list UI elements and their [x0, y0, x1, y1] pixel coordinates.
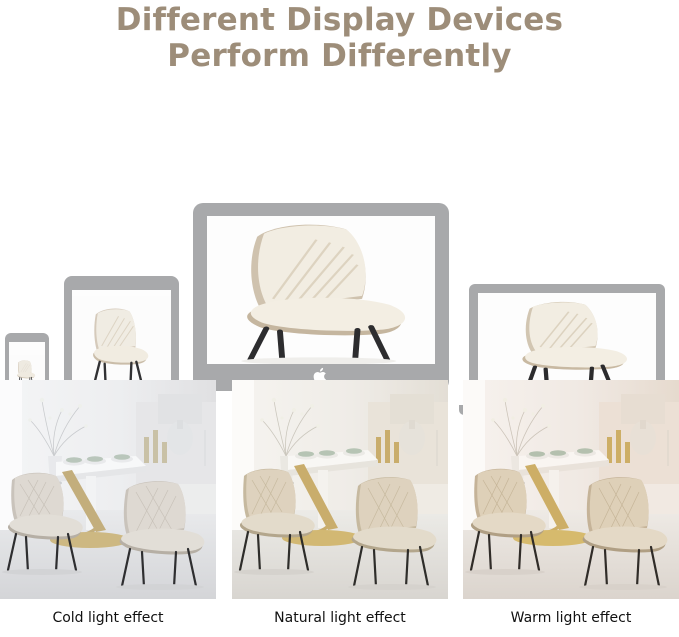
room-scene-warm	[463, 380, 679, 599]
room-photo-cold	[0, 380, 216, 599]
room-photo-natural	[232, 380, 448, 599]
page-title: Different Display Devices Perform Differ…	[0, 2, 679, 74]
monitor-screen	[207, 216, 435, 364]
room-label-cold: Cold light effect	[0, 599, 216, 637]
room-column-cold: Cold light effect	[0, 380, 216, 599]
device-lineup	[0, 90, 679, 345]
room-scene-cold	[0, 380, 216, 599]
room-label-warm: Warm light effect	[463, 599, 679, 637]
room-photo-warm	[463, 380, 679, 599]
page-title-line-1: Different Display Devices	[0, 2, 679, 38]
chair-image-monitor	[207, 216, 435, 364]
room-scene-natural	[232, 380, 448, 599]
room-column-natural: Natural light effect	[232, 380, 448, 599]
page-title-line-2: Perform Differently	[0, 38, 679, 74]
room-column-warm: Warm light effect	[463, 380, 679, 599]
lighting-comparison-row: Cold light effect	[0, 380, 679, 599]
room-label-natural: Natural light effect	[232, 599, 448, 637]
